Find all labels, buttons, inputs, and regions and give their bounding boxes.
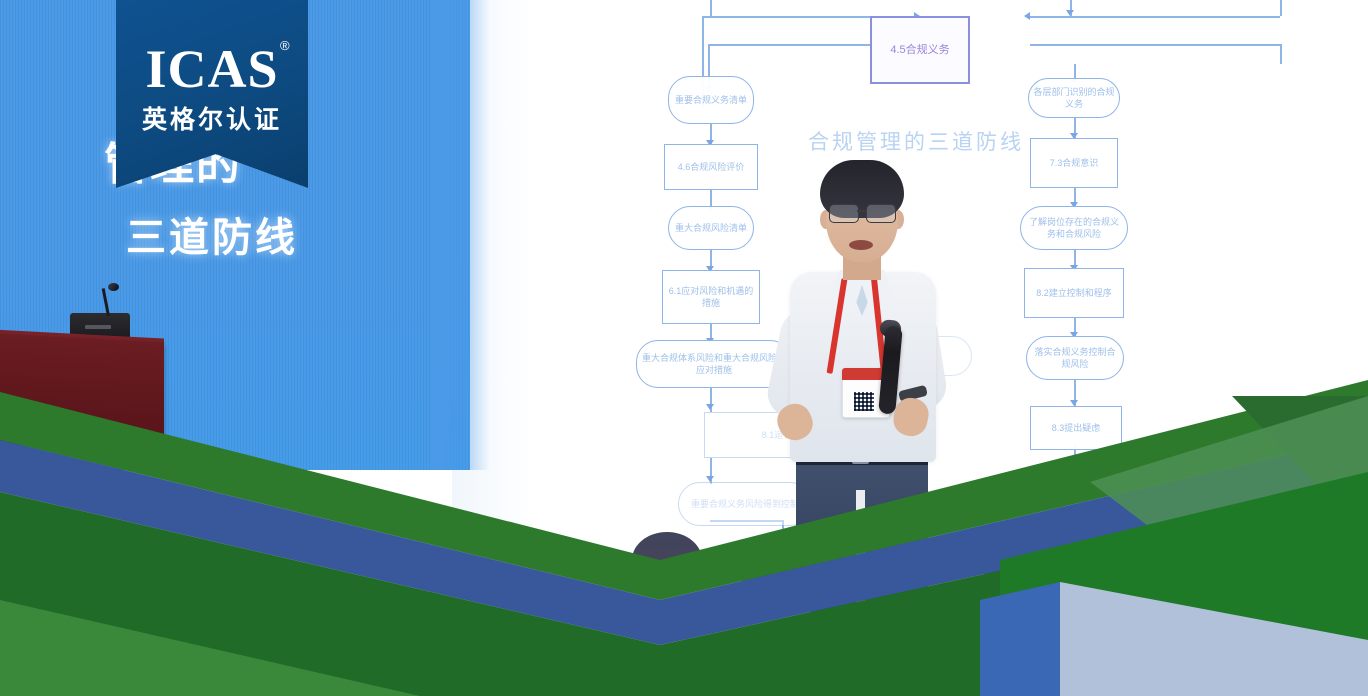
arrow-head	[1066, 10, 1074, 16]
flow-node-label: 8.2建立控制和程序	[1036, 287, 1112, 299]
connector-line	[1030, 16, 1280, 18]
glasses-lens-right	[866, 204, 896, 223]
connector-line	[1280, 44, 1282, 64]
flow-node-label: 7.3合规意识	[1050, 157, 1099, 169]
flow-node-implement-control[interactable]: 落实合规义务控制合规风险	[1026, 336, 1124, 380]
flow-node-label: 疑似不合规	[1053, 493, 1098, 505]
speaker	[772, 160, 972, 610]
podium-device-strip	[85, 325, 111, 329]
arrow-head	[706, 404, 714, 410]
glasses-lens-left	[829, 204, 859, 223]
flow-node-label: 落实合规义务控制合规风险	[1031, 346, 1119, 370]
flow-node-label: 各层部门识别的合规义务	[1033, 86, 1115, 110]
led-wall-edge-fade	[430, 0, 490, 470]
flow-node-6-1[interactable]: 6.1应对风险和机遇的措施	[662, 270, 760, 324]
flow-node-label: 了解岗位存在的合规义务和合规风险	[1025, 216, 1123, 240]
arrow-head	[1070, 466, 1078, 472]
qr-code-icon	[854, 392, 874, 411]
band-green-accent	[0, 600, 420, 696]
podium	[0, 333, 164, 452]
flow-node-4-5[interactable]: 4.5合规义务	[870, 16, 970, 84]
flow-node-label: 6.1应对风险和机遇的措施	[667, 285, 755, 309]
flow-node-dept-obligations[interactable]: 各层部门识别的合规义务	[1028, 78, 1120, 118]
connector-line	[1280, 0, 1282, 16]
flow-node-8-3[interactable]: 8.3提出疑虑	[1030, 406, 1122, 450]
flow-node-major-measures[interactable]: 重大合规体系风险和重大合规风险的应对措施	[636, 340, 792, 388]
wall-title-line2: 三道防线	[126, 205, 386, 257]
flow-node-label: 8.3提出疑虑	[1052, 422, 1101, 434]
flow-node-4-6[interactable]: 4.6合规风险评价	[664, 144, 758, 190]
slide-heading: 合规管理的三道防线	[808, 126, 1024, 156]
flow-node-label: 重大合规体系风险和重大合规风险的应对措施	[641, 352, 787, 376]
audience-head	[984, 548, 1056, 604]
flow-node-label: 4.6合规风险评价	[678, 161, 745, 173]
flow-node-label: 重大合规风险清单	[675, 222, 747, 234]
audience-head	[742, 556, 808, 608]
speaker-leg-gap	[856, 490, 865, 612]
connector-line	[1030, 44, 1280, 46]
flow-node-8-2[interactable]: 8.2建立控制和程序	[1024, 268, 1124, 318]
podium-microphone-head	[108, 283, 119, 291]
flow-node-suspected-noncompliance[interactable]: 疑似不合规	[1024, 478, 1128, 520]
flow-node-label: 重要合规义务清单	[675, 94, 747, 106]
flow-node-7-3[interactable]: 7.3合规意识	[1030, 138, 1118, 188]
flow-node-label: 4.5合规义务	[890, 43, 949, 58]
glasses-bridge	[857, 210, 866, 212]
speaker-mouth	[849, 240, 873, 250]
connector-line	[710, 0, 712, 16]
flow-node-important-list[interactable]: 重要合规义务清单	[668, 76, 754, 124]
screenshot-root: 4.5合规义务 重要合规义务清单 4.6合规风险评价 重大合规风险清单 6.1应…	[0, 0, 1368, 696]
icas-chinese-name: 英格尔认证	[116, 100, 308, 136]
registered-mark-icon: ®	[280, 38, 290, 53]
arrow-head	[1024, 12, 1030, 20]
flow-node-post-awareness[interactable]: 了解岗位存在的合规义务和合规风险	[1020, 206, 1128, 250]
audience-head	[632, 532, 702, 588]
arrow-head	[1070, 540, 1078, 546]
flow-node-major-risk-list[interactable]: 重大合规风险清单	[668, 206, 754, 250]
